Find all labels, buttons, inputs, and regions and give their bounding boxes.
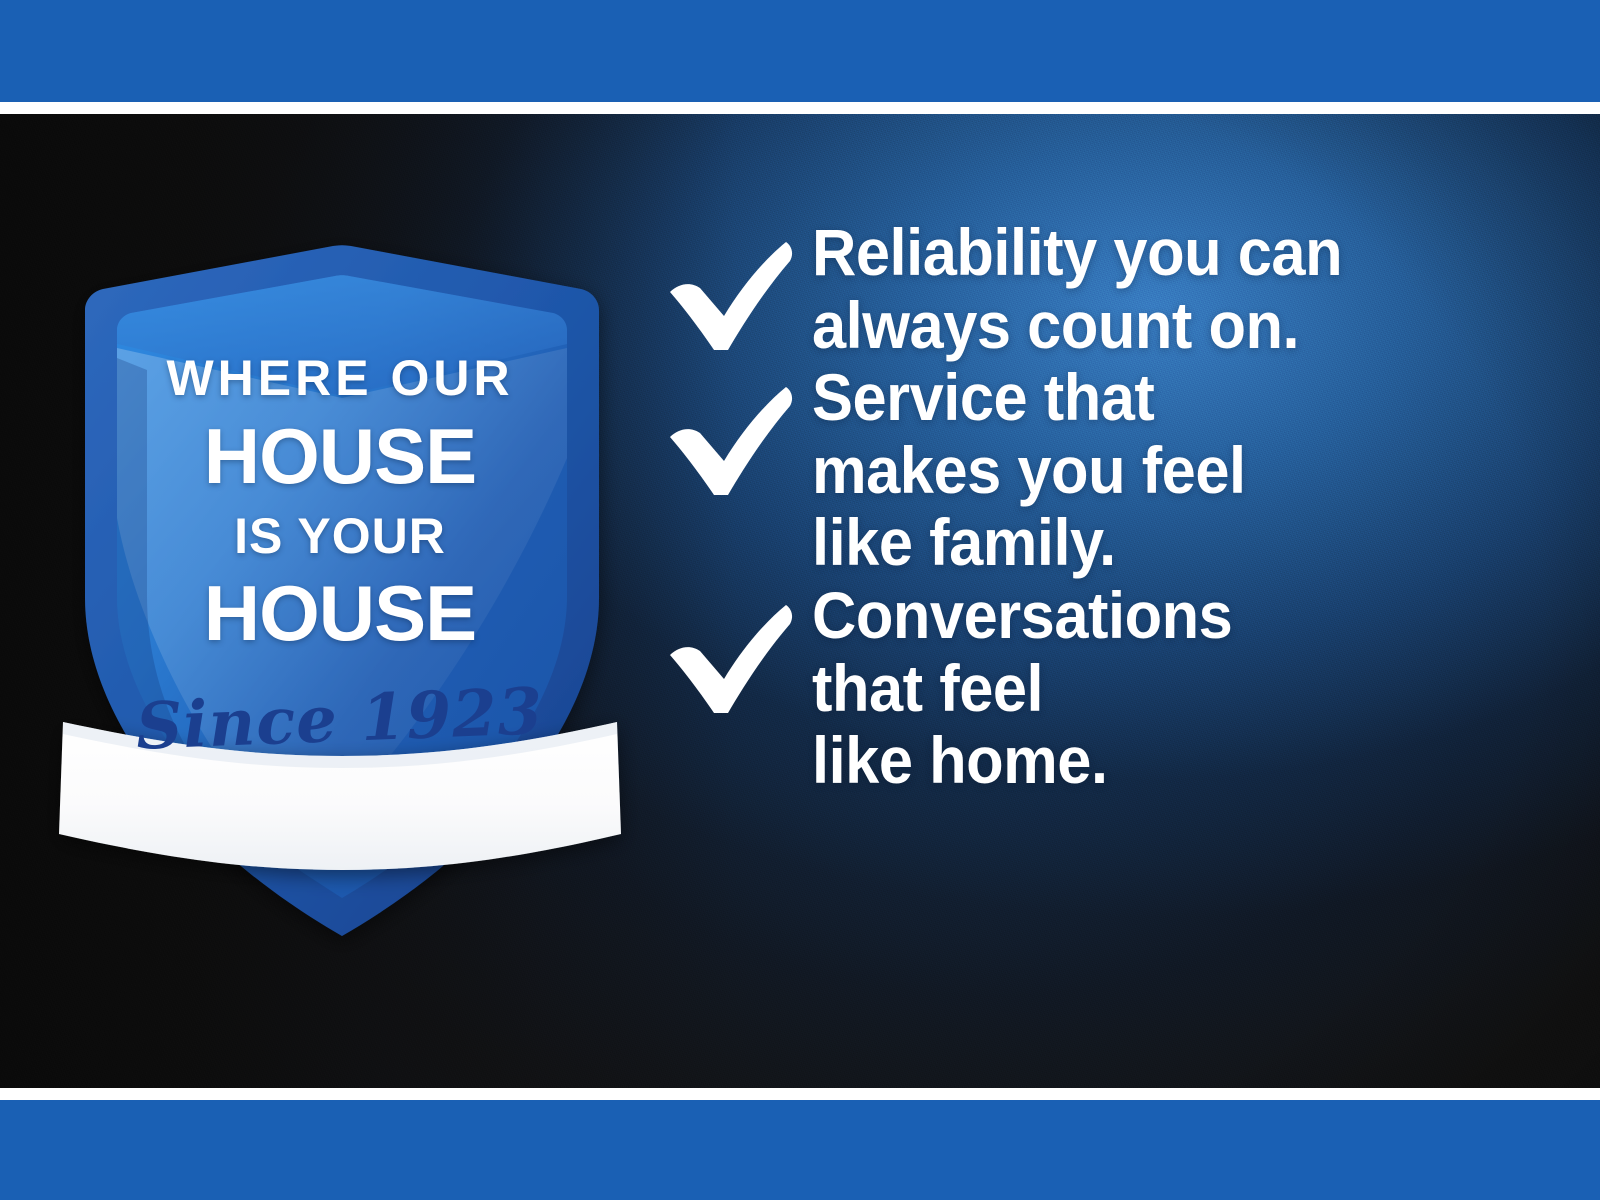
- benefit-2-line-1: Service that: [812, 361, 1246, 434]
- shield-badge: WHERE OUR HOUSE IS YOUR HOUSE Since 1923: [55, 158, 625, 798]
- check-icon: [660, 579, 812, 717]
- top-brand-band: [0, 0, 1600, 102]
- benefit-2-line-3: like family.: [812, 506, 1246, 579]
- benefit-3-line-3: like home.: [812, 724, 1232, 797]
- benefit-item-1: Reliability you can always count on.: [660, 216, 1540, 361]
- bottom-brand-band: [0, 1100, 1600, 1200]
- benefit-2-line-2: makes you feel: [812, 434, 1246, 507]
- benefit-text-3: Conversations that feel like home.: [812, 579, 1232, 797]
- benefit-list: Reliability you can always count on. Ser…: [660, 180, 1540, 797]
- check-icon: [660, 216, 812, 354]
- benefit-item-2: Service that makes you feel like family.: [660, 361, 1540, 579]
- benefit-text-2: Service that makes you feel like family.: [812, 361, 1246, 579]
- top-white-rule: [0, 102, 1600, 114]
- benefit-item-3: Conversations that feel like home.: [660, 579, 1540, 797]
- benefit-1-line-1: Reliability you can: [812, 216, 1342, 289]
- promo-graphic: WHERE OUR HOUSE IS YOUR HOUSE Since 1923…: [0, 0, 1600, 1200]
- benefit-1-line-2: always count on.: [812, 289, 1342, 362]
- benefit-3-line-2: that feel: [812, 652, 1232, 725]
- bottom-white-rule: [0, 1088, 1600, 1100]
- check-icon: [660, 361, 812, 499]
- benefit-text-1: Reliability you can always count on.: [812, 216, 1342, 361]
- shield-graphic: [55, 158, 625, 798]
- benefit-3-line-1: Conversations: [812, 579, 1232, 652]
